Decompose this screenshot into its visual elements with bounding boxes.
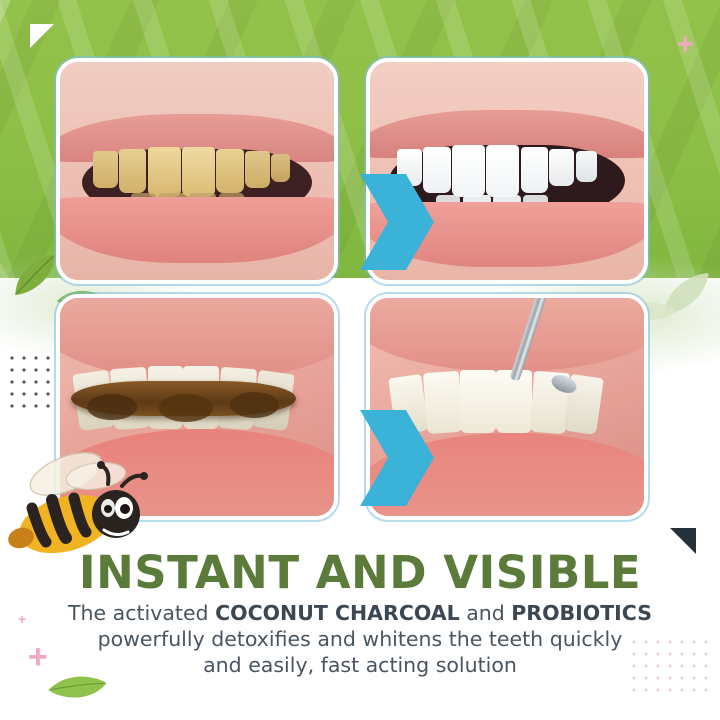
photo-before-yellow-teeth <box>56 58 338 284</box>
body-line-1-mid: and <box>460 601 512 625</box>
white-triangle-icon <box>30 24 54 48</box>
plus-sign-icon: + <box>676 30 694 60</box>
body-text: The activated COCONUT CHARCOAL and PROBI… <box>36 600 684 678</box>
plus-sign-icon: + <box>18 612 26 626</box>
body-line-3: and easily, fast acting solution <box>36 652 684 678</box>
body-line-2: powerfully detoxifies and whitens the te… <box>36 626 684 652</box>
body-line-1: The activated COCONUT CHARCOAL and PROBI… <box>36 600 684 626</box>
page-title: INSTANT AND VISIBLE <box>0 546 720 599</box>
poster-root: + + + <box>0 0 720 720</box>
body-line-1-bold-charcoal: COCONUT CHARCOAL <box>215 601 460 625</box>
body-line-1-pre: The activated <box>68 601 215 625</box>
body-line-1-bold-probiotics: PROBIOTICS <box>511 601 652 625</box>
